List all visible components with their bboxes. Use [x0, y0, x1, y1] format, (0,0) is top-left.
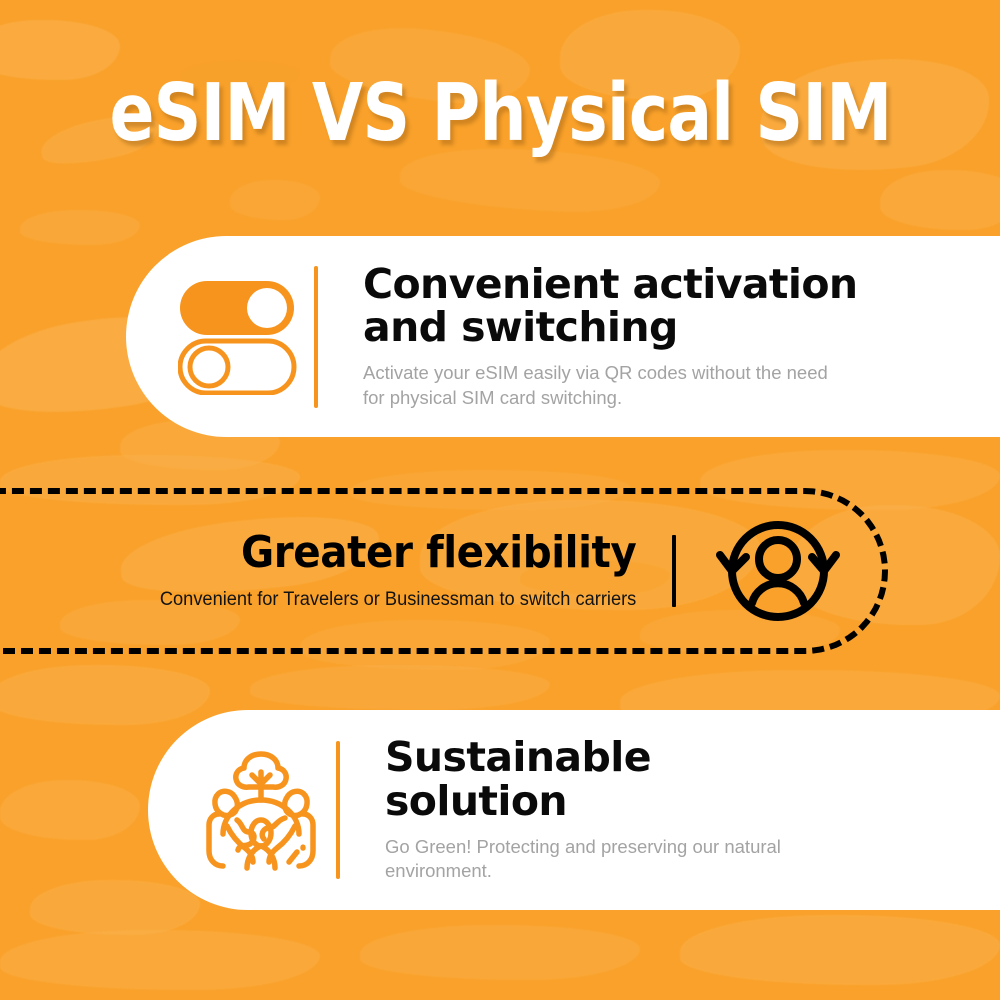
feature-text-block: Convenient activation and switching Acti… [363, 263, 858, 411]
page-title: eSIM VS Physical SIM [109, 74, 891, 153]
feature-card-greater-flexibility[interactable]: Greater flexibility Convenient for Trave… [0, 488, 888, 654]
feature-heading: Sustainable solution [385, 736, 781, 824]
feature-heading: Greater flexibility [179, 531, 636, 575]
feature-body: Convenient for Travelers or Businessman … [160, 589, 636, 611]
feature-text-block: Sustainable solution Go Green! Protectin… [385, 736, 781, 884]
page-title-container: eSIM VS Physical SIM [0, 74, 1000, 153]
feature-text-block: Greater flexibility Convenient for Trave… [140, 531, 636, 611]
band-content: Greater flexibility Convenient for Trave… [140, 505, 844, 637]
user-refresh-icon [712, 505, 844, 637]
feature-card-sustainable-solution[interactable]: Sustainable solution Go Green! Protectin… [148, 710, 1000, 910]
poster-canvas: eSIM VS Physical SIM Convenient activati… [0, 0, 1000, 1000]
toggle-switches-icon [164, 279, 314, 395]
feature-body: Go Green! Protecting and preserving our … [385, 835, 781, 884]
card-divider [672, 535, 676, 607]
feature-body: Activate your eSIM easily via QR codes w… [363, 361, 833, 410]
card-divider [336, 741, 340, 879]
feature-card-convenient-activation[interactable]: Convenient activation and switching Acti… [126, 236, 1000, 437]
card-divider [314, 266, 318, 408]
feature-heading: Convenient activation and switching [363, 263, 858, 351]
eco-community-hands-icon [186, 748, 336, 872]
